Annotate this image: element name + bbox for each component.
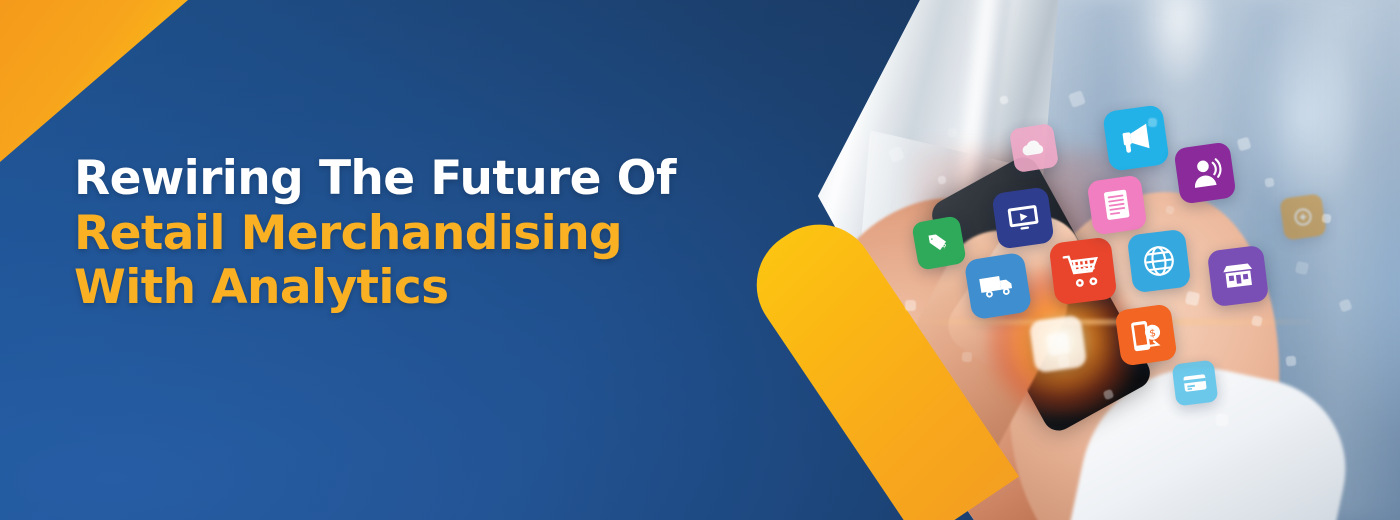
megaphone-icon — [1102, 104, 1170, 172]
mobile-payment-icon: $ — [1114, 303, 1177, 366]
glass-particle — [1148, 118, 1158, 128]
svg-text:$: $ — [1148, 328, 1156, 340]
faded-amber-icon — [1279, 193, 1326, 240]
glass-particle — [1338, 298, 1352, 312]
video-player-icon — [991, 186, 1054, 249]
glass-particle — [1295, 261, 1309, 275]
glass-particle — [905, 300, 916, 311]
headline-block: Rewiring The Future Of Retail Merchandis… — [74, 152, 724, 316]
hero-banner: $$ Rewiring The Future Of Retail Merchan… — [0, 0, 1400, 520]
glass-particle — [1103, 389, 1115, 401]
glass-particle — [962, 352, 973, 363]
globe-icon — [1127, 229, 1192, 294]
headline-line-1: Rewiring The Future Of — [74, 152, 724, 207]
glass-particle — [1216, 414, 1229, 427]
glass-particle — [1321, 213, 1331, 223]
headline-line-3: With Analytics — [74, 261, 724, 316]
glass-particle — [1251, 315, 1263, 327]
headline-line-2: Retail Merchandising — [74, 207, 724, 262]
glass-particle — [888, 146, 905, 163]
delivery-truck-icon — [964, 252, 1033, 321]
glass-particle — [1185, 291, 1200, 306]
document-icon — [1087, 175, 1148, 236]
glass-particle — [937, 175, 946, 184]
glass-particle — [1068, 90, 1086, 108]
glass-particle — [1286, 356, 1297, 367]
cloud-icon — [1009, 123, 1059, 173]
pos-card-icon — [1172, 360, 1219, 407]
storefront-icon — [1207, 245, 1269, 307]
sale-tag-icon: $ — [911, 215, 967, 271]
glass-particle — [1264, 177, 1274, 187]
glass-particle — [999, 95, 1009, 105]
glass-particle — [1237, 137, 1252, 152]
glass-particle — [1165, 205, 1175, 215]
glass-particle — [948, 128, 958, 138]
shopping-cart-icon — [1048, 236, 1117, 305]
support-agent-icon — [1173, 141, 1236, 204]
